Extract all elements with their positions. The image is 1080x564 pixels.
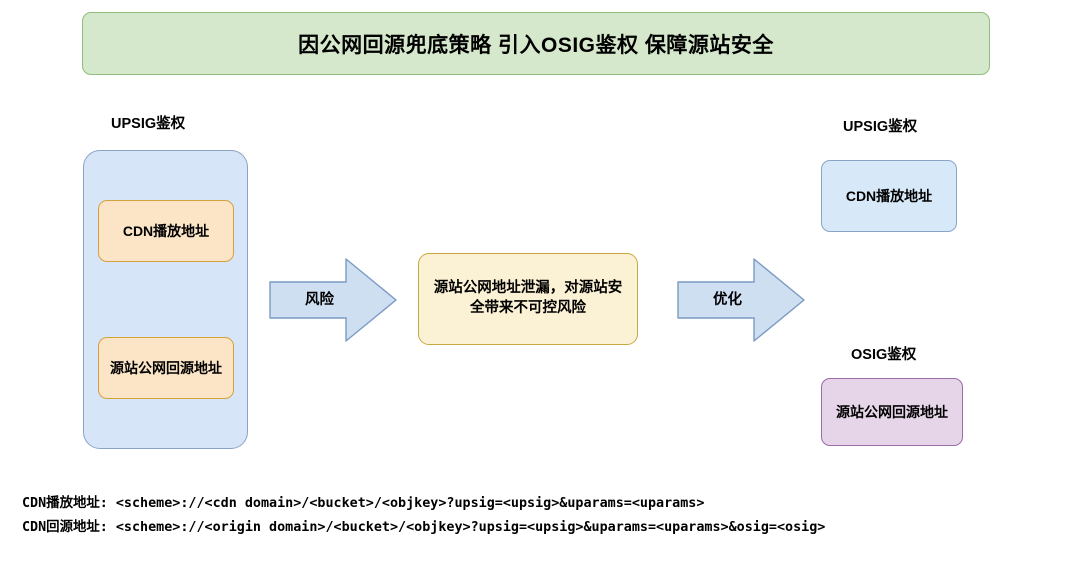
node-origin-public-address-right[interactable]: 源站公网回源地址 <box>821 378 963 446</box>
optimize-arrow-label: 优化 <box>713 288 742 309</box>
risk-arrow: 风险 <box>268 255 398 345</box>
risk-arrow-label: 风险 <box>305 288 334 309</box>
url-legend-line-origin: CDN回源地址: <scheme>://<origin domain>/<buc… <box>22 516 825 540</box>
node-cdn-play-address-right[interactable]: CDN播放地址 <box>821 160 957 232</box>
url-format-legend: CDN播放地址: <scheme>://<cdn domain>/<bucket… <box>22 492 825 540</box>
upsig-group-container <box>83 150 248 449</box>
page-title: 因公网回源兜底策略 引入OSIG鉴权 保障源站安全 <box>298 29 774 59</box>
optimize-arrow: 优化 <box>676 255 806 345</box>
node-origin-public-address-left[interactable]: 源站公网回源地址 <box>98 337 234 399</box>
node-risk-description[interactable]: 源站公网地址泄漏，对源站安全带来不可控风险 <box>418 253 638 345</box>
title-banner: 因公网回源兜底策略 引入OSIG鉴权 保障源站安全 <box>82 12 990 75</box>
right-osig-caption: OSIG鉴权 <box>851 343 916 364</box>
url-legend-line-play: CDN播放地址: <scheme>://<cdn domain>/<bucket… <box>22 492 825 516</box>
right-upsig-caption: UPSIG鉴权 <box>843 115 917 136</box>
node-cdn-play-address-left[interactable]: CDN播放地址 <box>98 200 234 262</box>
left-upsig-caption: UPSIG鉴权 <box>111 112 185 133</box>
